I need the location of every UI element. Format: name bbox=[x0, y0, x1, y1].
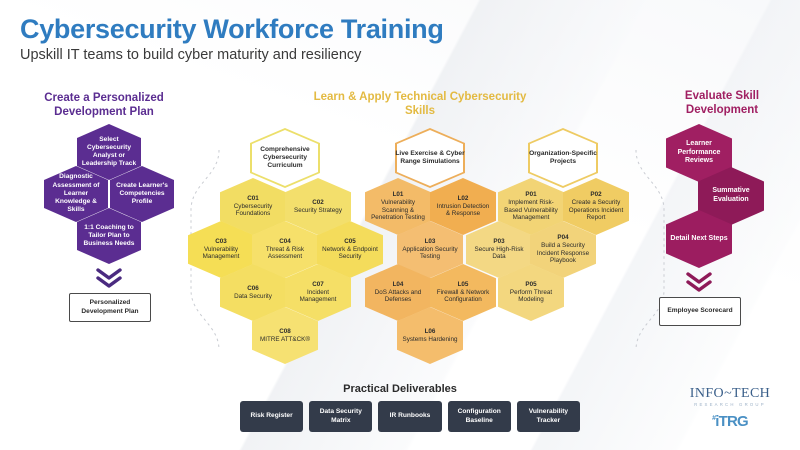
curriculum-hex-c01-text: C01Cybersecurity Foundations bbox=[220, 195, 286, 218]
deliverable-item-5[interactable]: Vulnerability Tracker bbox=[517, 401, 580, 432]
logo-primary-text: INFO~TECH bbox=[672, 386, 788, 401]
projects-hex-p04-text: P04Build a Security Incident Response Pl… bbox=[530, 234, 596, 265]
right-step-label-3: Detail Next Steps bbox=[666, 235, 731, 244]
live-exercise-group-header-hex[interactable]: Live Exercise & Cyber Range Simulations bbox=[395, 128, 465, 188]
deliverable-item-1[interactable]: Risk Register bbox=[240, 401, 303, 432]
live-exercise-hex-l01-text: L01Vulnerability Scanning & Penetration … bbox=[365, 191, 431, 222]
left-step-label-4: 1:1 Coaching to Tailor Plan to Business … bbox=[77, 224, 141, 249]
deliverable-item-4[interactable]: Configuration Baseline bbox=[448, 401, 511, 432]
right-outcome-label: Employee Scorecard bbox=[667, 307, 732, 315]
middle-column-heading: Learn & Apply Technical Cybersecurity Sk… bbox=[310, 91, 530, 118]
left-step-label-3: Create Learner's Competencies Profile bbox=[110, 182, 174, 207]
double-chevron-down-icon-left bbox=[96, 268, 122, 288]
curriculum-hex-c04-text: C04Threat & Risk Assessment bbox=[252, 238, 318, 261]
live-exercise-hex-l02-text: L02Intrusion Detection & Response bbox=[430, 195, 496, 218]
right-column-heading: Evaluate Skill Development bbox=[652, 90, 792, 117]
live-exercise-group-title: Live Exercise & Cyber Range Simulations bbox=[395, 150, 465, 166]
curriculum-hex-c03-text: C03Vulnerability Management bbox=[188, 238, 254, 261]
deliverable-item-2[interactable]: Data Security Matrix bbox=[309, 401, 372, 432]
curriculum-hex-c02-text: C02Security Strategy bbox=[290, 199, 346, 215]
curriculum-group-title: Comprehensive Cybersecurity Curriculum bbox=[250, 146, 320, 170]
left-edge-bar bbox=[0, 0, 5, 450]
deliverables-title: Practical Deliverables bbox=[300, 383, 500, 395]
page-title: Cybersecurity Workforce Training bbox=[20, 14, 444, 44]
curriculum-hex-c08-text: C08MITRE ATT&CK® bbox=[256, 328, 314, 344]
logo-secondary-text: RESEARCH GROUP bbox=[672, 402, 788, 407]
page-header: Cybersecurity Workforce Training Upskill… bbox=[20, 14, 444, 64]
projects-hex-p03-text: P03Secure High-Risk Data bbox=[466, 238, 532, 261]
right-step-label-2: Summative Evaluation bbox=[698, 187, 764, 204]
page-subtitle: Upskill IT teams to build cyber maturity… bbox=[20, 47, 444, 64]
live-exercise-hex-l04-text: L04DoS Attacks and Defenses bbox=[365, 281, 431, 304]
left-step-label-1: Select Cybersecurity Analyst or Leadersh… bbox=[77, 136, 141, 169]
deliverable-item-3[interactable]: IR Runbooks bbox=[378, 401, 441, 432]
live-exercise-hex-l06-text: L06Systems Hardening bbox=[399, 328, 462, 344]
curriculum-hex-c07-text: C07Incident Management bbox=[285, 281, 351, 304]
live-exercise-hex-l03-text: L03Application Security Testing bbox=[397, 238, 463, 261]
deliverables-row: Risk Register Data Security Matrix IR Ru… bbox=[240, 401, 580, 432]
itrg-badge: #iTRG bbox=[672, 411, 788, 429]
right-step-label-1: Learner Performance Reviews bbox=[666, 140, 732, 166]
info-tech-logo: INFO~TECH RESEARCH GROUP #iTRG bbox=[672, 386, 788, 429]
left-outcome-label: Personalized Development Plan bbox=[70, 299, 150, 316]
projects-group-title: Organization-Specific Projects bbox=[528, 150, 598, 166]
curriculum-hex-c05-text: C05Network & Endpoint Security bbox=[317, 238, 383, 261]
curriculum-group-header-hex[interactable]: Comprehensive Cybersecurity Curriculum bbox=[250, 128, 320, 188]
left-outcome-box[interactable]: Personalized Development Plan bbox=[69, 293, 151, 322]
live-exercise-hex-l05-text: L05Firewall & Network Configuration bbox=[430, 281, 496, 304]
projects-group-header-hex[interactable]: Organization-Specific Projects bbox=[528, 128, 598, 188]
curriculum-hex-c06-text: C06Data Security bbox=[230, 285, 276, 301]
left-column-heading: Create a Personalized Development Plan bbox=[14, 92, 194, 119]
double-chevron-down-icon-right bbox=[686, 272, 712, 292]
left-step-label-2: Diagnostic Assessment of Learner Knowled… bbox=[44, 173, 108, 214]
projects-hex-p01-text: P01Implement Risk-Based Vulnerability Ma… bbox=[498, 191, 564, 222]
right-outcome-box[interactable]: Employee Scorecard bbox=[659, 297, 741, 326]
projects-hex-p02-text: P02Create a Security Operations Incident… bbox=[563, 191, 629, 222]
itrg-badge-text: iTRG bbox=[715, 413, 748, 430]
projects-hex-p05-text: P05Perform Threat Modeling bbox=[498, 281, 564, 304]
